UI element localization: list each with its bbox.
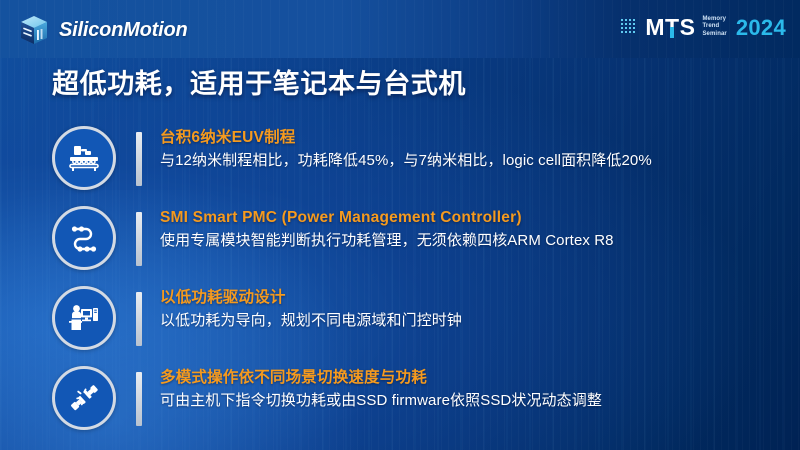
row-title: 以低功耗驱动设计 <box>160 288 462 308</box>
row-title: 台积6纳米EUV制程 <box>160 128 652 148</box>
row-description: 与12纳米制程相比，功耗降低45%，与7纳米相比，logic cell面积降低2… <box>160 150 652 172</box>
row-text-block: 以低功耗驱动设计 以低功耗为导向，规划不同电源域和门控时钟 <box>160 284 462 332</box>
event-mark-s: S <box>680 16 696 39</box>
feature-list: 台积6纳米EUV制程 与12纳米制程相比，功耗降低45%，与7纳米相比，logi… <box>52 124 782 444</box>
event-mark-m: M <box>645 16 665 39</box>
row-title: 多模式操作依不同场景切换速度与功耗 <box>160 368 602 388</box>
brand-name: SiliconMotion <box>59 19 188 42</box>
brand-lockup: SiliconMotion <box>18 14 188 46</box>
row-title: SMI Smart PMC (Power Management Controll… <box>160 208 614 228</box>
event-year: 2024 <box>736 17 786 39</box>
event-mark: MTS <box>645 16 695 39</box>
row-text-block: 台积6纳米EUV制程 与12纳米制程相比，功耗降低45%，与7纳米相比，logi… <box>160 124 652 172</box>
row-divider <box>136 292 142 346</box>
row-text-block: SMI Smart PMC (Power Management Controll… <box>160 204 614 252</box>
row-divider <box>136 372 142 426</box>
page-title: 超低功耗，适用于笔记本与台式机 <box>52 62 466 101</box>
row-text-block: 多模式操作依不同场景切换速度与功耗 可由主机下指令切换功耗或由SSD firmw… <box>160 364 602 412</box>
row-divider <box>136 132 142 186</box>
row-description: 以低功耗为导向，规划不同电源域和门控时钟 <box>160 310 462 332</box>
row-description: 使用专属模块智能判断执行功耗管理，无须依赖四核ARM Cortex R8 <box>160 230 614 252</box>
person-at-desktop-icon <box>52 286 116 350</box>
list-item: 台积6纳米EUV制程 与12纳米制程相比，功耗降低45%，与7纳米相比，logi… <box>52 124 782 204</box>
slide-header-bar: SiliconMotion MTS Memory Trend Seminar 2… <box>0 0 800 58</box>
list-item: 多模式操作依不同场景切换速度与功耗 可由主机下指令切换功耗或由SSD firmw… <box>52 364 782 444</box>
production-line-icon <box>52 126 116 190</box>
event-subtitle: Memory Trend Seminar <box>702 16 726 39</box>
event-mark-t: T <box>665 16 680 39</box>
silicon-motion-cube-logo-icon <box>18 14 50 46</box>
plug-connector-spark-icon <box>52 366 116 430</box>
row-description: 可由主机下指令切换功耗或由SSD firmware依照SSD状况动态调整 <box>160 390 602 412</box>
event-logo-lockup: MTS Memory Trend Seminar 2024 <box>621 16 786 39</box>
list-item: SMI Smart PMC (Power Management Controll… <box>52 204 782 284</box>
circuit-node-path-icon <box>52 206 116 270</box>
dot-grid-icon <box>621 19 638 37</box>
list-item: 以低功耗驱动设计 以低功耗为导向，规划不同电源域和门控时钟 <box>52 284 782 364</box>
row-divider <box>136 212 142 266</box>
slide-canvas: SiliconMotion MTS Memory Trend Seminar 2… <box>0 0 800 450</box>
